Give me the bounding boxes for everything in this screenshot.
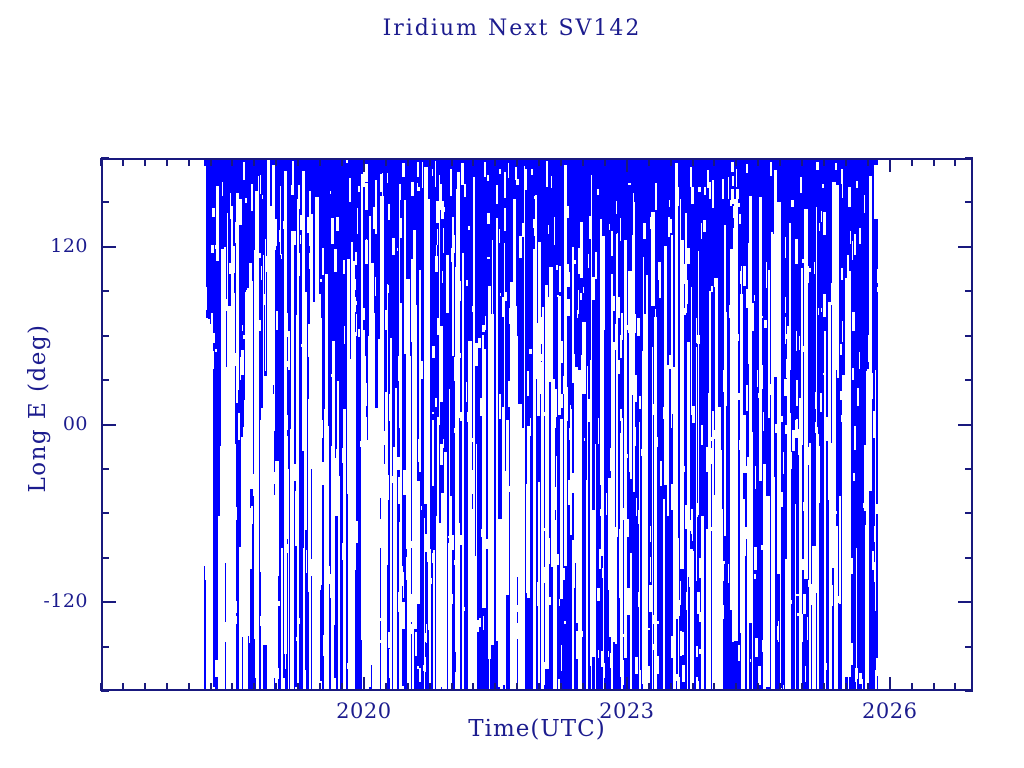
data-gap-speckle — [472, 438, 473, 442]
data-gap-speckle — [385, 534, 386, 545]
data-gap-speckle — [292, 161, 294, 188]
data-gap-speckle — [791, 452, 792, 469]
data-gap-speckle — [441, 625, 442, 628]
data-gap-speckle — [620, 506, 622, 530]
data-gap-speckle — [212, 208, 215, 217]
data-gap-speckle — [308, 324, 311, 344]
data-gap-speckle — [381, 409, 383, 429]
data-gap-speckle — [801, 346, 804, 352]
data-gap-stripe — [774, 170, 777, 377]
data-gap-speckle — [322, 420, 323, 438]
data-gap-speckle — [499, 229, 500, 244]
data-gap-speckle — [569, 428, 570, 440]
data-gap-speckle — [628, 292, 630, 297]
data-gap-speckle — [546, 161, 547, 187]
data-gap-speckle — [823, 373, 825, 376]
data-gap-speckle — [600, 443, 602, 447]
data-gap-speckle — [273, 191, 274, 197]
data-gap-speckle — [234, 507, 237, 520]
data-gap-speckle — [551, 176, 553, 188]
plot-area — [101, 158, 973, 691]
data-gap-speckle — [620, 218, 622, 241]
data-gap-speckle — [233, 322, 235, 348]
data-gap-speckle — [603, 473, 604, 488]
data-gap-speckle — [522, 475, 524, 481]
data-gap-speckle — [802, 259, 805, 263]
data-gap-speckle — [581, 614, 582, 628]
data-gap-speckle — [348, 511, 350, 516]
data-gap-speckle — [398, 356, 399, 381]
data-gap-speckle — [639, 396, 641, 409]
data-gap-speckle — [710, 437, 712, 441]
data-gap-speckle — [291, 185, 294, 195]
data-gap-speckle — [735, 200, 737, 214]
data-gap-speckle — [638, 510, 639, 524]
data-gap-speckle — [588, 399, 590, 421]
data-gap-stripe — [459, 523, 460, 691]
data-gap-speckle — [504, 172, 506, 198]
data-gap-speckle — [733, 500, 735, 502]
data-gap-stripe — [812, 546, 816, 691]
data-gap-speckle — [504, 208, 506, 231]
data-gap-stripe — [521, 428, 525, 691]
data-gap-speckle — [783, 452, 784, 474]
data-gap-speckle — [800, 177, 802, 193]
data-gap-speckle — [682, 665, 685, 683]
data-gap-speckle — [796, 380, 798, 406]
data-gap-speckle — [417, 162, 419, 177]
data-gap-speckle — [758, 393, 761, 398]
data-gap-speckle — [750, 495, 753, 522]
data-gap-speckle — [522, 677, 523, 683]
data-gap-stripe — [591, 175, 592, 691]
data-gap-speckle — [459, 281, 461, 301]
data-gap-speckle — [236, 616, 237, 623]
data-gap-stripe — [440, 326, 443, 403]
data-gap-speckle — [414, 388, 416, 404]
data-gap-speckle — [831, 283, 832, 305]
data-gap-speckle — [227, 450, 228, 467]
data-gap-speckle — [249, 295, 252, 316]
data-gap-speckle — [841, 415, 842, 422]
data-gap-stripe — [743, 415, 746, 473]
data-gap-speckle — [468, 602, 470, 621]
data-gap-stripe — [698, 251, 699, 515]
data-gap-speckle — [716, 449, 718, 457]
data-gap-speckle — [501, 574, 503, 583]
data-gap-speckle — [872, 373, 873, 400]
data-gap-speckle — [841, 268, 843, 280]
data-gap-speckle — [363, 545, 364, 565]
data-gap-speckle — [699, 649, 702, 654]
data-gap-speckle — [617, 360, 619, 373]
data-gap-speckle — [530, 418, 531, 436]
data-gap-speckle — [281, 254, 282, 259]
data-gap-speckle — [344, 326, 345, 344]
data-gap-speckle — [411, 594, 414, 622]
data-gap-speckle — [785, 237, 786, 259]
data-gap-speckle — [686, 280, 688, 304]
data-gap-speckle — [568, 480, 570, 505]
data-gap-stripe — [258, 176, 259, 258]
data-gap-speckle — [645, 558, 646, 571]
data-gap-stripe — [331, 446, 335, 691]
data-gap-speckle — [540, 317, 543, 344]
data-gap-speckle — [815, 570, 818, 592]
data-gap-speckle — [791, 600, 793, 604]
data-gap-speckle — [777, 626, 778, 641]
data-gap-speckle — [504, 469, 505, 492]
data-gap-speckle — [610, 448, 611, 471]
data-gap-speckle — [601, 651, 604, 667]
data-gap-speckle — [754, 295, 756, 300]
data-gap-speckle — [803, 594, 806, 615]
data-gap-speckle — [855, 674, 857, 682]
data-gap-speckle — [496, 243, 497, 269]
data-gap-speckle — [839, 497, 840, 523]
data-gap-speckle — [832, 427, 835, 431]
data-gap-speckle — [648, 666, 650, 686]
data-gap-speckle — [808, 580, 810, 587]
data-gap-speckle — [754, 574, 757, 579]
data-gap-speckle — [552, 440, 554, 448]
data-gap-speckle — [387, 173, 388, 183]
data-gap-speckle — [754, 547, 757, 569]
data-gap-stripe — [234, 352, 235, 628]
data-gap-speckle — [291, 587, 293, 604]
data-gap-speckle — [837, 596, 840, 603]
data-gap-speckle — [849, 468, 851, 493]
data-gap-speckle — [789, 498, 791, 511]
data-gap-speckle — [592, 277, 594, 300]
data-gap-speckle — [625, 287, 627, 297]
data-gap-stripe — [734, 199, 738, 640]
data-gap-speckle — [721, 605, 724, 619]
data-gap-speckle — [876, 504, 879, 514]
data-gap-speckle — [440, 643, 443, 671]
data-gap-speckle — [264, 415, 266, 438]
data-gap-speckle — [690, 674, 691, 691]
data-gap-stripe — [473, 177, 475, 474]
data-gap-speckle — [781, 416, 783, 423]
data-gap-stripe — [592, 510, 594, 657]
data-gap-speckle — [254, 386, 255, 405]
data-gap-speckle — [834, 526, 835, 546]
data-gap-speckle — [527, 512, 529, 516]
data-gap-speckle — [627, 454, 628, 458]
data-gap-speckle — [645, 519, 647, 538]
data-gap-speckle — [512, 529, 515, 534]
data-gap-speckle — [260, 616, 262, 625]
data-gap-speckle — [809, 584, 812, 605]
data-gap-speckle — [402, 163, 405, 176]
data-gap-speckle — [246, 402, 248, 428]
data-gap-speckle — [244, 575, 246, 581]
data-gap-speckle — [425, 446, 426, 452]
data-gap-speckle — [611, 231, 613, 257]
data-gap-speckle — [502, 621, 503, 647]
data-gap-speckle — [823, 212, 826, 235]
data-gap-speckle — [757, 370, 758, 387]
data-gap-speckle — [625, 325, 628, 330]
data-gap-speckle — [842, 321, 843, 342]
data-gap-speckle — [692, 529, 693, 541]
data-gap-speckle — [505, 505, 507, 532]
data-gap-speckle — [554, 487, 557, 509]
data-gap-speckle — [487, 257, 490, 259]
data-gap-speckle — [723, 370, 726, 392]
data-gap-speckle — [453, 290, 455, 302]
data-gap-speckle — [301, 344, 303, 348]
data-gap-speckle — [785, 425, 787, 433]
data-gap-speckle — [570, 405, 571, 419]
data-gap-speckle — [390, 563, 392, 588]
data-gap-speckle — [358, 186, 360, 191]
data-gap-speckle — [728, 177, 729, 199]
data-gap-speckle — [270, 252, 273, 265]
data-gap-speckle — [710, 448, 713, 464]
data-gap-speckle — [525, 169, 527, 190]
data-gap-speckle — [730, 428, 732, 455]
data-gap-speckle — [544, 567, 545, 583]
data-gap-stripe — [801, 268, 803, 445]
y-tick-label: 120 — [0, 235, 88, 257]
data-gap-speckle — [436, 201, 439, 223]
data-gap-speckle — [550, 342, 553, 365]
data-gap-speckle — [602, 568, 603, 578]
data-gap-speckle — [750, 245, 751, 272]
data-gap-speckle — [642, 432, 644, 454]
data-gap-stripe — [652, 347, 653, 691]
data-gap-speckle — [543, 662, 544, 685]
data-gap-speckle — [745, 527, 748, 539]
data-gap-speckle — [264, 615, 266, 632]
data-gap-speckle — [230, 193, 232, 219]
data-gap-speckle — [785, 317, 786, 344]
data-gap-speckle — [382, 372, 383, 388]
data-gap-speckle — [567, 206, 568, 218]
data-gap-speckle — [254, 432, 255, 436]
data-gap-speckle — [544, 412, 546, 416]
data-gap-speckle — [321, 462, 324, 486]
data-gap-speckle — [440, 444, 443, 465]
data-gap-speckle — [424, 308, 425, 335]
data-gap-speckle — [275, 219, 277, 246]
data-gap-speckle — [702, 675, 704, 691]
data-gap-speckle — [603, 514, 604, 535]
data-gap-speckle — [206, 343, 207, 362]
data-gap-speckle — [816, 162, 819, 170]
data-gap-speckle — [808, 447, 810, 465]
data-gap-speckle — [464, 607, 465, 611]
data-gap-speckle — [259, 320, 262, 331]
data-gap-speckle — [452, 535, 454, 549]
data-gap-speckle — [397, 457, 400, 469]
data-gap-speckle — [508, 381, 511, 407]
data-gap-speckle — [365, 383, 367, 406]
data-gap-speckle — [309, 191, 311, 218]
data-gap-speckle — [796, 331, 797, 351]
data-gap-stripe — [462, 253, 464, 691]
data-gap-speckle — [697, 592, 700, 614]
data-gap-speckle — [821, 211, 822, 221]
data-gap-speckle — [347, 663, 348, 669]
data-gap-speckle — [349, 536, 350, 540]
data-gap-speckle — [642, 468, 645, 480]
data-gap-speckle — [564, 621, 566, 624]
data-gap-speckle — [801, 559, 803, 571]
data-gap-speckle — [677, 600, 680, 616]
data-gap-speckle — [328, 597, 329, 601]
data-gap-speckle — [750, 412, 753, 426]
data-gap-speckle — [832, 394, 834, 410]
data-gap-speckle — [431, 578, 432, 583]
data-gap-speckle — [567, 299, 569, 316]
data-gap-speckle — [394, 531, 395, 542]
data-gap-speckle — [215, 245, 218, 250]
data-gap-speckle — [578, 248, 580, 274]
data-gap-speckle — [543, 528, 545, 532]
data-gap-speckle — [758, 666, 761, 685]
data-gap-stripe — [864, 445, 866, 511]
data-gap-speckle — [366, 239, 367, 256]
data-gap-speckle — [517, 407, 518, 430]
data-gap-speckle — [263, 294, 265, 306]
data-gap-speckle — [408, 373, 410, 400]
data-gap-speckle — [454, 560, 456, 566]
data-gap-speckle — [627, 588, 630, 615]
data-gap-speckle — [306, 550, 307, 573]
data-gap-speckle — [242, 469, 245, 494]
data-gap-speckle — [818, 470, 820, 484]
data-gap-speckle — [454, 357, 456, 381]
data-gap-speckle — [657, 621, 659, 624]
data-gap-speckle — [719, 666, 721, 685]
data-gap-speckle — [211, 245, 213, 253]
data-gap-stripe — [304, 481, 305, 632]
data-gap-speckle — [467, 412, 470, 422]
data-gap-speckle — [699, 612, 701, 621]
data-gap-speckle — [857, 388, 858, 406]
data-gap-speckle — [703, 220, 705, 232]
data-gap-stripe — [372, 313, 375, 691]
data-gap-speckle — [850, 231, 851, 244]
data-gap-speckle — [509, 308, 511, 325]
data-gap-speckle — [330, 574, 331, 598]
data-gap-stripe — [211, 313, 213, 691]
data-gap-speckle — [460, 412, 462, 422]
data-gap-speckle — [382, 517, 384, 534]
y-axis-title: Long E (deg) — [25, 278, 51, 538]
data-gap-speckle — [377, 681, 379, 687]
data-gap-speckle — [377, 482, 378, 506]
data-gap-speckle — [589, 216, 591, 239]
data-gap-speckle — [459, 353, 461, 358]
data-gap-speckle — [750, 659, 751, 662]
data-gap-speckle — [375, 277, 376, 296]
data-gap-speckle — [682, 632, 684, 655]
data-gap-speckle — [689, 520, 691, 530]
data-gap-speckle — [499, 394, 501, 419]
data-gap-speckle — [576, 631, 578, 659]
data-gap-speckle — [469, 627, 470, 634]
data-gap-stripe — [639, 422, 640, 691]
data-gap-speckle — [633, 275, 634, 279]
data-gap-speckle — [786, 359, 788, 378]
data-gap-speckle — [728, 564, 729, 583]
data-gap-speckle — [389, 653, 390, 678]
data-gap-speckle — [468, 226, 471, 230]
data-gap-speckle — [533, 219, 535, 228]
data-gap-speckle — [322, 248, 324, 275]
data-gap-speckle — [729, 305, 730, 318]
data-gap-speckle — [583, 287, 584, 293]
data-gap-speckle — [392, 238, 395, 255]
data-gap-stripe — [347, 337, 348, 495]
data-gap-speckle — [789, 606, 790, 609]
data-gap-speckle — [675, 306, 678, 333]
data-gap-speckle — [559, 599, 560, 605]
data-gap-speckle — [497, 365, 498, 374]
data-gap-speckle — [294, 464, 296, 482]
data-gap-speckle — [680, 424, 681, 450]
data-gap-speckle — [222, 690, 225, 691]
data-gap-speckle — [653, 404, 655, 415]
data-gap-stripe — [352, 261, 355, 691]
data-gap-speckle — [443, 207, 445, 212]
chart-canvas: Iridium Next SV142 12000-120202020232026… — [0, 0, 1024, 768]
data-gap-stripe — [371, 263, 373, 332]
data-gap-speckle — [399, 344, 401, 355]
data-gap-speckle — [733, 228, 734, 255]
data-gap-speckle — [212, 687, 215, 691]
data-gap-speckle — [484, 162, 486, 177]
data-gap-speckle — [403, 470, 406, 494]
data-gap-speckle — [524, 183, 527, 186]
y-tick-label: -120 — [0, 590, 88, 612]
data-gap-speckle — [595, 252, 597, 278]
data-gap-speckle — [331, 218, 334, 244]
data-gap-speckle — [772, 340, 775, 348]
data-gap-speckle — [743, 266, 746, 286]
data-gap-speckle — [535, 473, 536, 490]
data-gap-speckle — [854, 234, 857, 255]
data-gap-speckle — [378, 640, 381, 644]
data-gap-speckle — [622, 660, 624, 685]
data-gap-speckle — [298, 185, 301, 209]
data-gap-speckle — [853, 473, 855, 482]
data-gap-speckle — [358, 329, 360, 336]
data-gap-speckle — [296, 637, 297, 641]
data-gap-speckle — [214, 340, 215, 342]
data-gap-speckle — [715, 606, 716, 610]
data-gap-speckle — [365, 164, 368, 182]
data-gap-speckle — [229, 513, 231, 537]
data-gap-speckle — [680, 581, 681, 605]
data-gap-speckle — [785, 334, 788, 339]
data-gap-speckle — [778, 224, 779, 240]
data-gap-speckle — [869, 252, 871, 272]
data-gap-speckle — [835, 235, 838, 253]
data-gap-speckle — [617, 233, 618, 258]
data-gap-speckle — [837, 354, 839, 378]
data-gap-speckle — [402, 686, 404, 691]
data-gap-speckle — [513, 212, 516, 239]
data-gap-speckle — [633, 487, 635, 492]
data-gap-speckle — [510, 512, 512, 521]
data-gap-speckle — [539, 366, 542, 382]
data-gap-speckle — [509, 486, 511, 492]
